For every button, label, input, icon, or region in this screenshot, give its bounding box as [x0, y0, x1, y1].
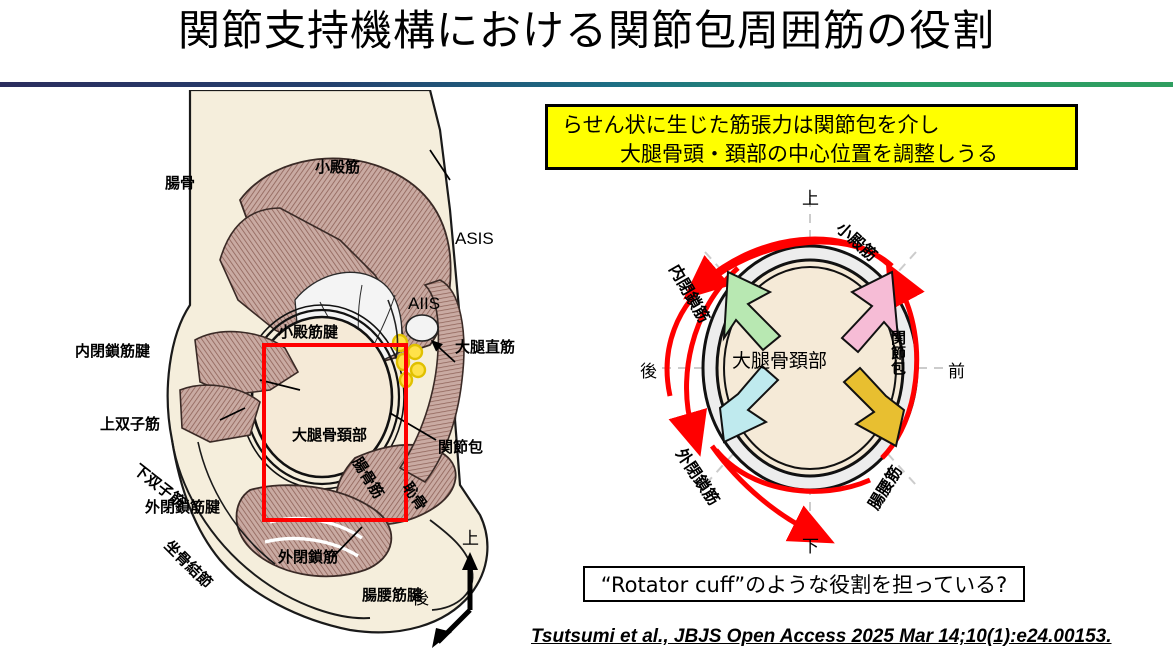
title-divider	[0, 82, 1173, 87]
compass-label-up: 上	[462, 530, 479, 547]
page-title: 関節支持機構における関節包周囲筋の役割	[0, 8, 1173, 54]
label-obturator-externus-tendon: 外閉鎖筋腱	[145, 500, 220, 515]
callout-line-1: らせん状に生じた筋張力は関節包を介し	[562, 111, 1065, 140]
schematic-capsule-label: 関節包	[890, 330, 905, 375]
conclusion-text: “Rotator cuff”のような役割を担っている?	[601, 569, 1008, 599]
callout-line-2: 大腿骨頭・頚部の中心位置を調整しうる	[562, 140, 1065, 169]
label-obturator-internus-tendon: 内閉鎖筋腱	[75, 344, 150, 359]
obturator-internus-muscle	[180, 385, 260, 442]
label-joint-capsule: 関節包	[438, 440, 483, 455]
citation: Tsutsumi et al., JBJS Open Access 2025 M…	[531, 626, 1112, 648]
schematic-dir-posterior: 後	[640, 357, 657, 382]
schematic-center-label: 大腿骨頚部	[732, 352, 827, 371]
label-ilium: 腸骨	[165, 176, 195, 191]
force-schematic: 大腿骨頚部 関節包 上 下 前 後 小殿筋 内閉鎖筋 外閉鎖筋 腸腰筋	[620, 180, 985, 560]
label-superior-gemellus: 上双子筋	[100, 417, 160, 432]
compass-label-posterior: 後	[412, 590, 429, 607]
schematic-dir-anterior: 前	[948, 357, 965, 382]
key-message-callout: らせん状に生じた筋張力は関節包を介し 大腿骨頭・頚部の中心位置を調整しうる	[545, 104, 1078, 170]
conclusion-box: “Rotator cuff”のような役割を担っている?	[583, 566, 1025, 602]
label-gluteus-minimus-tendon: 小殿筋腱	[278, 325, 338, 340]
label-gluteus-minimus: 小殿筋	[315, 160, 360, 175]
label-femoral-neck: 大腿骨頚部	[292, 428, 367, 443]
label-aiis: AIIS	[408, 295, 440, 312]
anatomy-figure: 腸骨 小殿筋 小殿筋腱 内閉鎖筋腱 上双子筋 下双子筋 外閉鎖筋腱 坐骨結節 外…	[100, 90, 545, 650]
label-rectus-femoris: 大腿直筋	[455, 340, 515, 355]
label-obturator-externus: 外閉鎖筋	[278, 550, 338, 565]
label-asis: ASIS	[455, 230, 494, 247]
aiis-structure	[406, 315, 438, 341]
schematic-dir-up: 上	[802, 184, 819, 209]
schematic-dir-down: 下	[802, 532, 819, 557]
